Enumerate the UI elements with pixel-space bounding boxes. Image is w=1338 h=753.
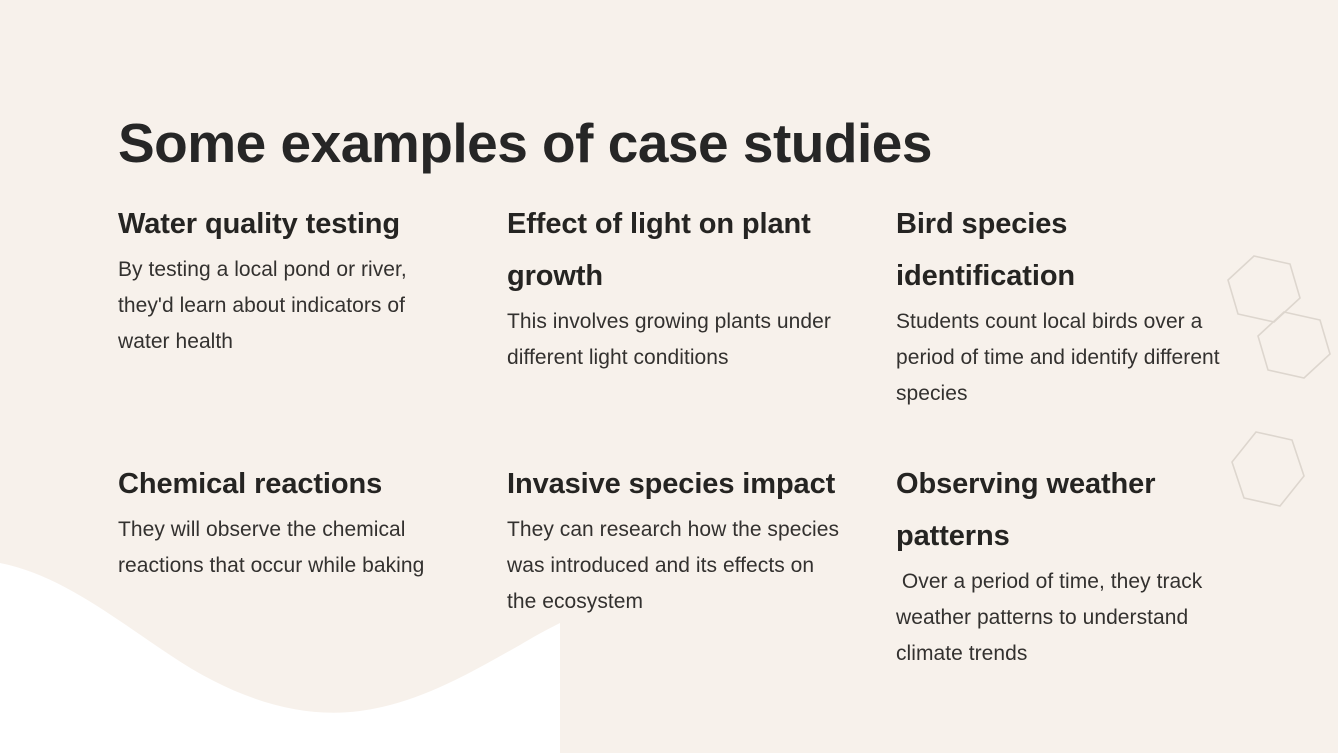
case-study-description: Students count local birds over a period… xyxy=(896,304,1236,412)
case-study-card-invasive-species-impact: Invasive species impact They can researc… xyxy=(507,458,847,672)
case-study-card-chemical-reactions: Chemical reactions They will observe the… xyxy=(118,458,448,672)
case-study-card-bird-species-identification: Bird species identification Students cou… xyxy=(896,198,1236,458)
case-study-card-effect-of-light-on-plant-growth: Effect of light on plant growth This inv… xyxy=(507,198,847,458)
case-study-description: Over a period of time, they track weathe… xyxy=(896,564,1236,672)
case-study-description: This involves growing plants under diffe… xyxy=(507,304,847,376)
case-study-title: Effect of light on plant growth xyxy=(507,198,847,302)
slide-canvas: Some examples of case studies Water qual… xyxy=(0,0,1338,753)
case-study-description: They will observe the chemical reactions… xyxy=(118,512,448,584)
case-study-title: Chemical reactions xyxy=(118,458,448,510)
case-study-card-observing-weather-patterns: Observing weather patterns Over a period… xyxy=(896,458,1236,672)
case-study-card-water-quality-testing: Water quality testing By testing a local… xyxy=(118,198,448,458)
case-study-title: Bird species identification xyxy=(896,198,1236,302)
page-title: Some examples of case studies xyxy=(118,115,932,173)
case-study-description: They can research how the species was in… xyxy=(507,512,847,620)
case-study-title: Invasive species impact xyxy=(507,458,847,510)
case-study-grid: Water quality testing By testing a local… xyxy=(118,198,1278,672)
case-study-title: Observing weather patterns xyxy=(896,458,1236,562)
case-study-description: By testing a local pond or river, they'd… xyxy=(118,252,448,360)
case-study-title: Water quality testing xyxy=(118,198,448,250)
